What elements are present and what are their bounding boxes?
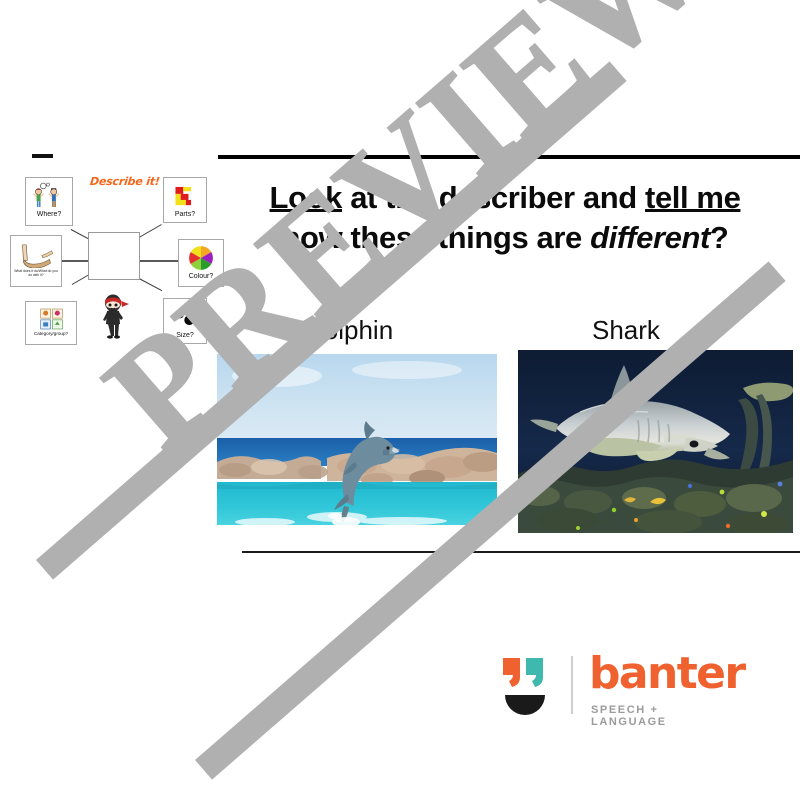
heading-tellme-underlined: tell me (645, 180, 740, 215)
describer-card-colour[interactable]: Colour? (178, 239, 224, 287)
three-dots-size-icon (164, 302, 206, 332)
describer-card-label: Category/group? (26, 332, 76, 337)
animal-label-dolphin: Dolphin (305, 315, 393, 346)
describer-card-category[interactable]: Category/group? (25, 301, 77, 345)
logo-wordmark: banter (589, 652, 745, 696)
describer-card-label: What does it do/What do you do with it? (11, 269, 61, 278)
ninja-mascot-icon (96, 291, 132, 339)
describer-card-label: Size? (164, 332, 206, 339)
dolphin-jumping-photo (217, 354, 497, 525)
colour-wheel-icon (179, 243, 223, 273)
banter-logo: banter SPEECH + LANGUAGE (497, 650, 737, 722)
describer-card-label: Where? (26, 211, 72, 218)
header-divider-rule (218, 155, 800, 159)
heading-line2-start: how these things are (282, 220, 591, 255)
heading-line-1: Look at the describer and tell me (215, 178, 795, 218)
footer-divider-rule (242, 551, 800, 553)
top-left-dash-mark (32, 154, 53, 158)
four-category-tiles-icon (26, 305, 76, 332)
describer-card-label: Parts? (164, 211, 206, 218)
connector-parts (139, 224, 162, 238)
two-people-speech-bubble-icon (26, 181, 72, 211)
heading-line1-mid: at the describer and (342, 180, 645, 215)
shark-reef-photo (518, 350, 793, 533)
heading-look-underlined: Look (270, 180, 342, 215)
connector-size (139, 278, 162, 291)
describer-card-label: Colour? (179, 273, 223, 280)
red-yellow-blocks-icon (164, 181, 206, 211)
describer-card-function[interactable]: What does it do/What do you do with it? (10, 235, 62, 287)
describer-center-box (88, 232, 140, 280)
hammer-icon (11, 239, 61, 269)
logo-divider (571, 656, 573, 714)
animal-label-shark: Shark (592, 315, 660, 346)
describer-card-where[interactable]: Where? (25, 177, 73, 226)
heading-line2-end: ? (710, 220, 729, 255)
describer-card-size[interactable]: Size? (163, 298, 207, 344)
describer-card-parts[interactable]: Parts? (163, 177, 207, 223)
describer-mindmap: Describe it! (8, 165, 223, 355)
describer-title: Describe it! (89, 175, 160, 188)
quote-bowl-logo-icon (497, 654, 555, 716)
logo-tagline: SPEECH + LANGUAGE (591, 704, 737, 728)
slide-heading: Look at the describer and tell me how th… (215, 178, 795, 257)
heading-different-italic: different (590, 220, 710, 255)
slide-canvas: Describe it! (0, 0, 800, 800)
heading-line-2: how these things are different? (215, 218, 795, 258)
